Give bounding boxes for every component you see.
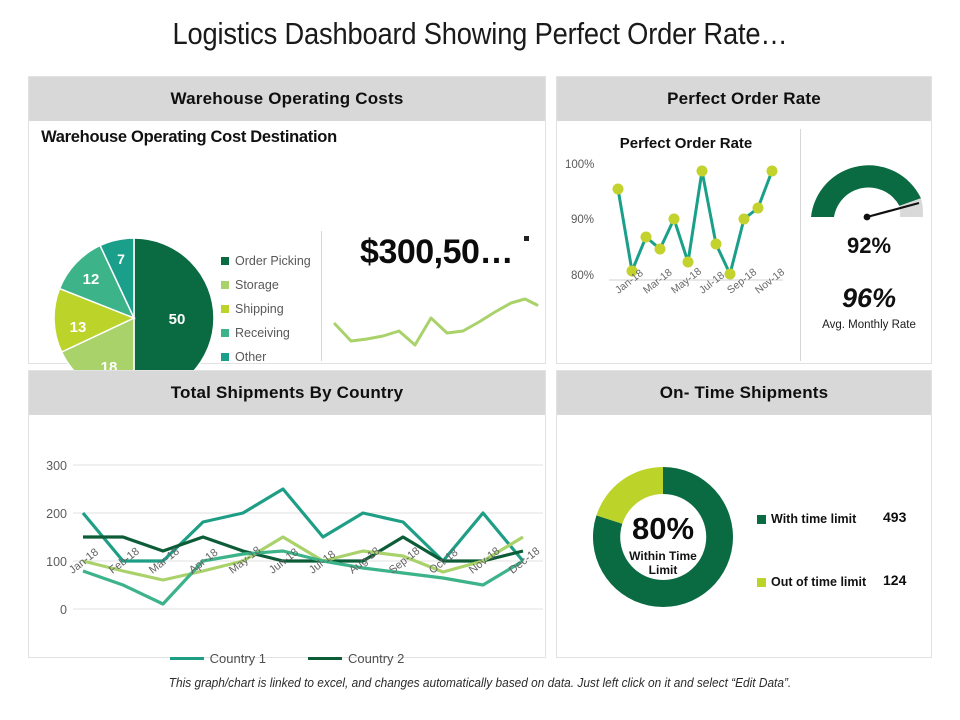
legend-label: Receiving xyxy=(235,326,290,340)
y-axis-tick-200: 200 xyxy=(29,507,67,521)
legend-label: Out of time limit xyxy=(771,575,866,589)
panel-header-on-time-shipments: On- Time Shipments xyxy=(557,371,931,415)
legend-label: Order Picking xyxy=(235,254,311,268)
legend-line-icon xyxy=(170,657,204,660)
legend-value-out-of-time-limit: 124 xyxy=(883,572,906,588)
legend-swatch-icon xyxy=(221,281,229,289)
legend-swatch-icon xyxy=(221,329,229,337)
y-axis-tick-80: 80% xyxy=(571,270,594,282)
gauge-value-label: 92% xyxy=(805,233,933,259)
dashboard-root: Logistics Dashboard Showing Perfect Orde… xyxy=(0,0,960,720)
pie-slice-value-shipping: 13 xyxy=(70,319,87,336)
legend-label: Country 1 xyxy=(210,651,266,666)
panel-on-time-shipments: On- Time Shipments 80% Within Time Limit xyxy=(556,370,932,658)
page-title: Logistics Dashboard Showing Perfect Orde… xyxy=(58,16,903,52)
y-axis-tick-90: 90% xyxy=(571,214,594,226)
legend-label: Storage xyxy=(235,278,279,292)
kpi-total-operating-cost: $300,50… xyxy=(329,233,544,272)
legend-item-country-2[interactable]: Country 2 xyxy=(308,651,404,666)
panel-header-perfect-order-rate: Perfect Order Rate xyxy=(557,77,931,121)
y-axis-tick-100: 100% xyxy=(565,159,594,171)
panel-body-total-shipments: 300 200 100 0 Jan-18 F xyxy=(29,415,545,657)
legend-label: With time limit xyxy=(771,512,856,526)
legend-label: Other xyxy=(235,350,266,364)
pie-chart-title: Warehouse Operating Cost Destination xyxy=(39,127,339,147)
donut-center-percent: 80% xyxy=(587,513,739,545)
legend-line-icon xyxy=(308,657,342,660)
shipments-legend: Country 1 Country 2 xyxy=(29,651,545,666)
legend-label: Shipping xyxy=(235,302,284,316)
legend-swatch-icon xyxy=(757,578,766,587)
panel-header-warehouse-operating-costs: Warehouse Operating Costs xyxy=(29,77,545,121)
donut-center-label: 80% Within Time Limit xyxy=(587,513,739,577)
panel-divider xyxy=(321,231,322,361)
panel-warehouse-operating-costs: Warehouse Operating Costs Warehouse Oper… xyxy=(28,76,546,364)
panel-title-text: On- Time Shipments xyxy=(660,383,829,403)
cost-sparkline-chart[interactable] xyxy=(333,293,539,355)
avg-monthly-rate-caption: Avg. Monthly Rate xyxy=(805,319,933,331)
avg-monthly-rate-value: 96% xyxy=(805,283,933,314)
panel-title-text: Perfect Order Rate xyxy=(667,89,821,109)
panel-body-perfect-order-rate: Perfect Order Rate 100% 90% 80% Jan- xyxy=(557,121,931,363)
legend-item-storage[interactable]: Storage xyxy=(221,273,311,297)
legend-swatch-icon xyxy=(221,257,229,265)
y-axis-tick-0: 0 xyxy=(29,603,67,617)
pie-slice-value-receiving: 12 xyxy=(83,271,100,288)
legend-swatch-icon xyxy=(221,305,229,313)
legend-item-with-time-limit[interactable]: With time limit xyxy=(757,512,856,526)
panel-divider xyxy=(800,129,801,361)
legend-swatch-icon xyxy=(221,353,229,361)
panel-title-text: Total Shipments By Country xyxy=(171,383,404,403)
y-axis-tick-100: 100 xyxy=(29,555,67,569)
panel-header-total-shipments: Total Shipments By Country xyxy=(29,371,545,415)
panel-title-text: Warehouse Operating Costs xyxy=(171,89,404,109)
panel-perfect-order-rate: Perfect Order Rate Perfect Order Rate 10… xyxy=(556,76,932,364)
pie-slice-value-other: 7 xyxy=(117,251,125,267)
donut-center-caption-line2: Limit xyxy=(587,563,739,577)
legend-item-out-of-time-limit[interactable]: Out of time limit xyxy=(757,575,866,589)
perfect-order-rate-chart-title: Perfect Order Rate xyxy=(575,135,797,152)
panel-total-shipments-by-country: Total Shipments By Country 300 200 100 0 xyxy=(28,370,546,658)
panel-body-warehouse-operating-costs: Warehouse Operating Cost Destination 50 … xyxy=(29,121,545,363)
legend-item-country-1[interactable]: Country 1 xyxy=(170,651,266,666)
panel-body-on-time-shipments: 80% Within Time Limit With time limit 49… xyxy=(557,415,931,657)
stray-marker-icon xyxy=(524,236,529,241)
legend-item-shipping[interactable]: Shipping xyxy=(221,297,311,321)
y-axis-tick-300: 300 xyxy=(29,459,67,473)
pie-slice-value-order-picking: 50 xyxy=(169,311,186,328)
legend-swatch-icon xyxy=(757,515,766,524)
legend-item-other[interactable]: Other xyxy=(221,345,311,369)
donut-center-caption-line1: Within Time xyxy=(587,549,739,563)
footer-note: This graph/chart is linked to excel, and… xyxy=(24,676,936,690)
legend-item-receiving[interactable]: Receiving xyxy=(221,321,311,345)
pie-legend: Order Picking Storage Shipping Receiving… xyxy=(221,249,311,369)
legend-item-order-picking[interactable]: Order Picking xyxy=(221,249,311,273)
legend-value-with-time-limit: 493 xyxy=(883,509,906,525)
legend-label: Country 2 xyxy=(348,651,404,666)
perfect-order-rate-gauge[interactable] xyxy=(805,151,933,223)
